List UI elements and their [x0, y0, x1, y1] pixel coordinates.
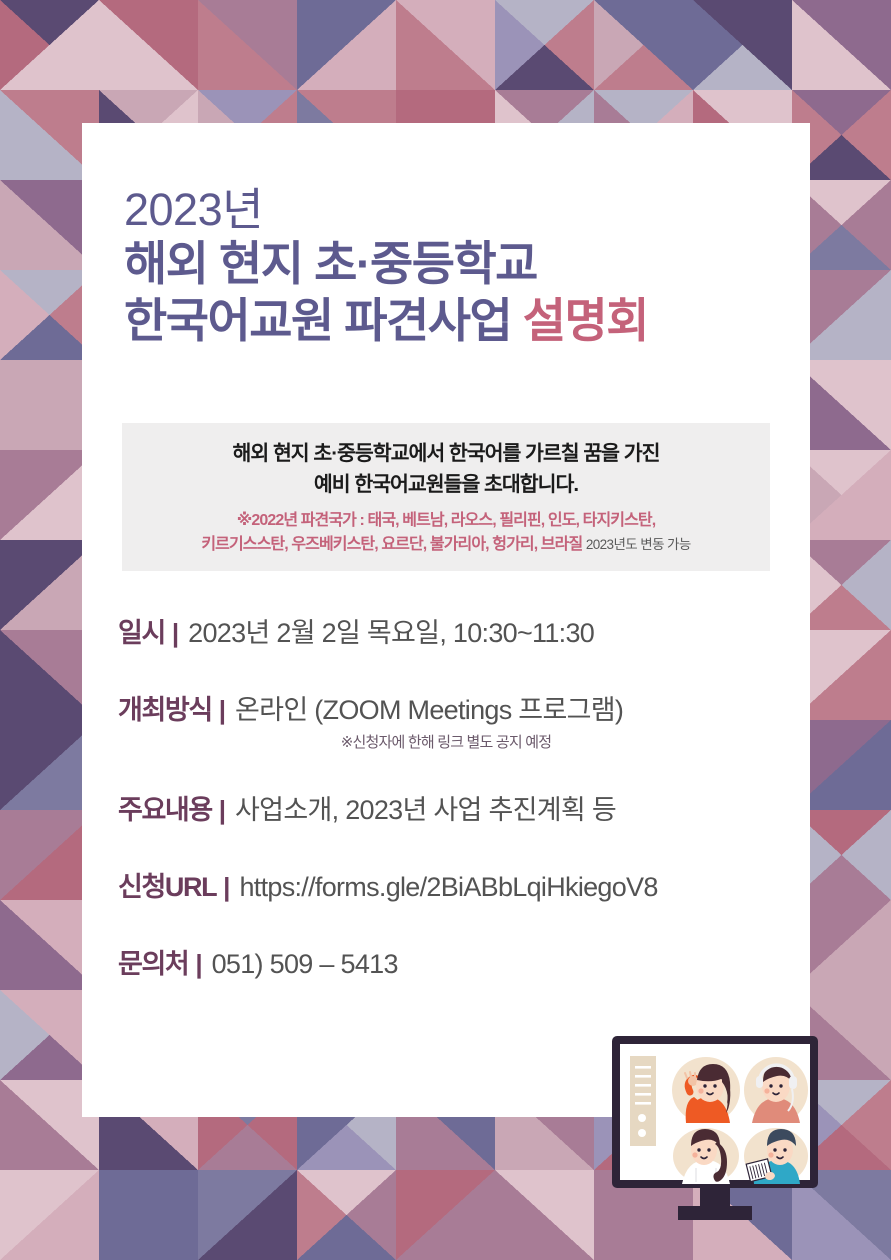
- detail-value-format: 온라인 (ZOOM Meetings 프로그램): [235, 688, 623, 727]
- detail-row-contact-line: 문의처 | 051) 509 – 5413: [118, 942, 798, 981]
- detail-note-format: ※신청자에 한해 링크 별도 공지 예정: [236, 731, 656, 752]
- detail-label-contact: 문의처: [118, 942, 188, 981]
- detail-row-url: 신청URL | https://forms.gle/2BiABbLqiHkieg…: [118, 865, 798, 904]
- heading-accent: 설명회: [523, 294, 648, 347]
- detail-separator-content: |: [219, 795, 226, 826]
- participant-headset-man: [744, 1057, 808, 1123]
- detail-separator-url: |: [223, 872, 230, 903]
- detail-row-url-line: 신청URL | https://forms.gle/2BiABbLqiHkieg…: [118, 865, 798, 904]
- video-conference-monitor-illustration: [604, 1028, 826, 1228]
- participant-ponytail-woman: [673, 1128, 739, 1184]
- info-box-note-suffix: 2023년도 변동 가능: [586, 537, 691, 552]
- info-box-main-line-1: 해외 현지 초·중등학교에서 한국어를 가르칠 꿈을 가진: [233, 438, 660, 469]
- info-box-note-countries: 키르기스스탄, 우즈베키스탄, 요르단, 불가리아, 헝가리, 브라질: [201, 536, 582, 553]
- participant-waving-woman: [672, 1057, 740, 1123]
- detail-row-format-line: 개최방식 | 온라인 (ZOOM Meetings 프로그램): [118, 688, 798, 727]
- info-box-note-line-2: 키르기스스탄, 우즈베키스탄, 요르단, 불가리아, 헝가리, 브라질 2023…: [201, 533, 690, 557]
- participant-notebook-man: [744, 1128, 808, 1184]
- detail-row-date: 일시 | 2023년 2월 2일 목요일, 10:30~11:30: [118, 611, 798, 650]
- heading-line-3-main: 한국어교원 파견사업: [124, 294, 511, 347]
- detail-separator-format: |: [219, 695, 226, 726]
- poster-root: 2023년 해외 현지 초·중등학교 한국어교원 파견사업 설명회 해외 현지 …: [0, 0, 891, 1260]
- heading-line-2: 해외 현지 초·중등학교: [124, 235, 784, 292]
- detail-value-date: 2023년 2월 2일 목요일, 10:30~11:30: [188, 611, 594, 650]
- detail-separator-date: |: [172, 618, 179, 649]
- detail-row-content-line: 주요내용 | 사업소개, 2023년 사업 추진계획 등: [118, 788, 798, 827]
- detail-row-date-line: 일시 | 2023년 2월 2일 목요일, 10:30~11:30: [118, 611, 798, 650]
- detail-label-content: 주요내용: [118, 788, 212, 827]
- info-box: 해외 현지 초·중등학교에서 한국어를 가르칠 꿈을 가진 예비 한국어교원들을…: [122, 423, 770, 571]
- detail-label-format: 개최방식: [118, 688, 212, 727]
- heading-year: 2023년: [124, 185, 784, 235]
- info-box-note: ※2022년 파견국가 : 태국, 베트남, 라오스, 필리핀, 인도, 타지키…: [201, 509, 690, 557]
- detail-separator-contact: |: [195, 949, 202, 980]
- detail-row-contact: 문의처 | 051) 509 – 5413: [118, 942, 798, 981]
- info-box-main: 해외 현지 초·중등학교에서 한국어를 가르칠 꿈을 가진 예비 한국어교원들을…: [233, 438, 660, 500]
- info-box-note-line-1: ※2022년 파견국가 : 태국, 베트남, 라오스, 필리핀, 인도, 타지키…: [201, 509, 690, 533]
- detail-value-contact: 051) 509 – 5413: [212, 949, 398, 980]
- heading-line-3: 한국어교원 파견사업 설명회: [124, 292, 784, 349]
- detail-label-date: 일시: [118, 611, 165, 650]
- detail-label-url: 신청URL: [118, 865, 216, 904]
- detail-row-content: 주요내용 | 사업소개, 2023년 사업 추진계획 등: [118, 788, 798, 827]
- info-box-main-line-2: 예비 한국어교원들을 초대합니다.: [233, 469, 660, 500]
- detail-row-format: 개최방식 | 온라인 (ZOOM Meetings 프로그램) ※신청자에 한해…: [118, 688, 798, 752]
- poster-heading: 2023년 해외 현지 초·중등학교 한국어교원 파견사업 설명회: [124, 185, 784, 349]
- detail-rows: 일시 | 2023년 2월 2일 목요일, 10:30~11:30 개최방식 |…: [118, 611, 798, 981]
- content-card: 2023년 해외 현지 초·중등학교 한국어교원 파견사업 설명회 해외 현지 …: [82, 123, 810, 1117]
- detail-value-content: 사업소개, 2023년 사업 추진계획 등: [235, 788, 616, 827]
- detail-value-url[interactable]: https://forms.gle/2BiABbLqiHkiegoV8: [239, 872, 657, 903]
